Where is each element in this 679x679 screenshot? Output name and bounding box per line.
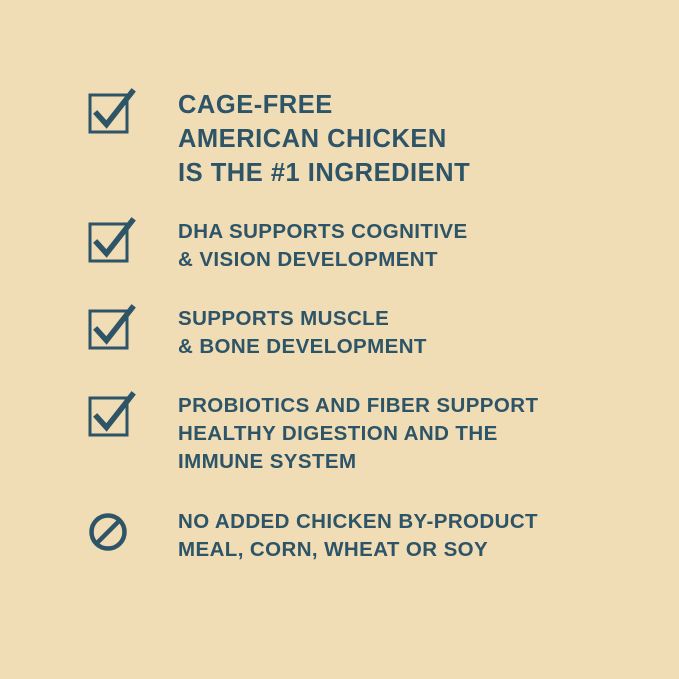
benefit-text: SUPPORTS MUSCLE & BONE DEVELOPMENT — [178, 305, 427, 361]
benefit-item-dha: DHA SUPPORTS COGNITIVE & VISION DEVELOPM… — [88, 218, 468, 274]
benefit-text: CAGE-FREE AMERICAN CHICKEN IS THE #1 ING… — [178, 88, 470, 190]
benefit-item-cage-free: CAGE-FREE AMERICAN CHICKEN IS THE #1 ING… — [88, 88, 470, 190]
benefit-text: NO ADDED CHICKEN BY-PRODUCT MEAL, CORN, … — [178, 508, 538, 564]
checked-checkbox-icon — [88, 218, 178, 264]
benefit-item-probiotics: PROBIOTICS AND FIBER SUPPORT HEALTHY DIG… — [88, 392, 538, 476]
benefit-text: DHA SUPPORTS COGNITIVE & VISION DEVELOPM… — [178, 218, 468, 274]
checked-checkbox-icon — [88, 305, 178, 351]
checked-checkbox-icon — [88, 392, 178, 438]
benefit-item-no-by-product: NO ADDED CHICKEN BY-PRODUCT MEAL, CORN, … — [88, 508, 538, 564]
benefit-item-muscle-bone: SUPPORTS MUSCLE & BONE DEVELOPMENT — [88, 305, 427, 361]
benefit-text: PROBIOTICS AND FIBER SUPPORT HEALTHY DIG… — [178, 392, 538, 476]
checked-checkbox-icon — [88, 88, 178, 135]
prohibition-no-entry-icon — [88, 508, 178, 556]
benefits-panel: CAGE-FREE AMERICAN CHICKEN IS THE #1 ING… — [0, 0, 679, 679]
